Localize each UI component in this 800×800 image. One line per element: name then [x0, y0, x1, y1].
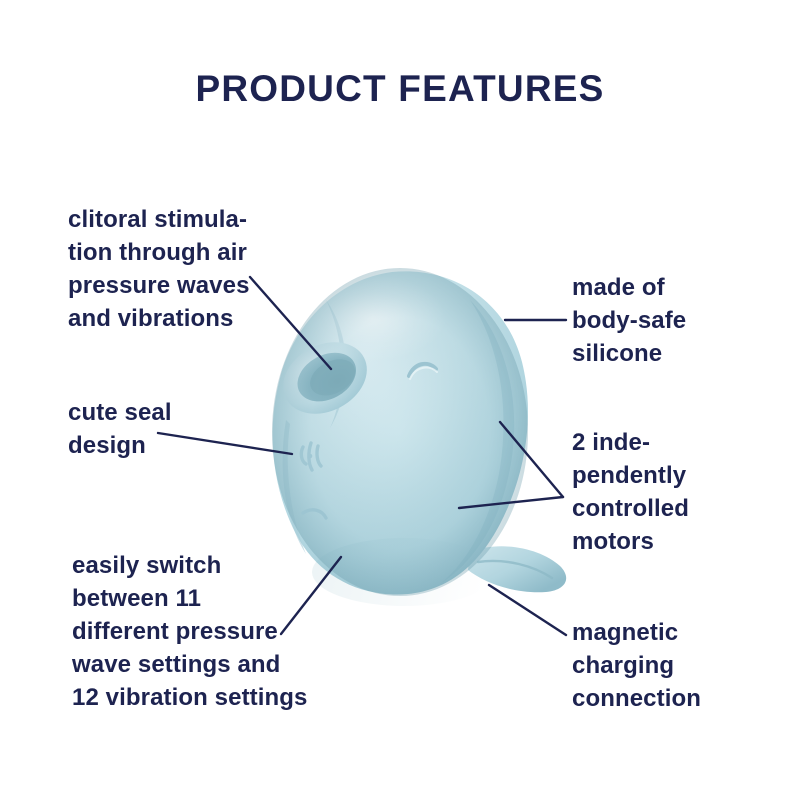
leader-lines: [0, 0, 800, 800]
leader-motors-upper: [500, 422, 563, 497]
leader-settings: [281, 557, 341, 634]
leader-magnetic-charging: [489, 585, 566, 635]
leader-clitoral-stimulation: [250, 277, 331, 369]
leader-motors-lower: [459, 497, 563, 508]
product-features-infographic: PRODUCT FEATURES: [0, 0, 800, 800]
leader-cute-seal-design: [158, 433, 292, 454]
